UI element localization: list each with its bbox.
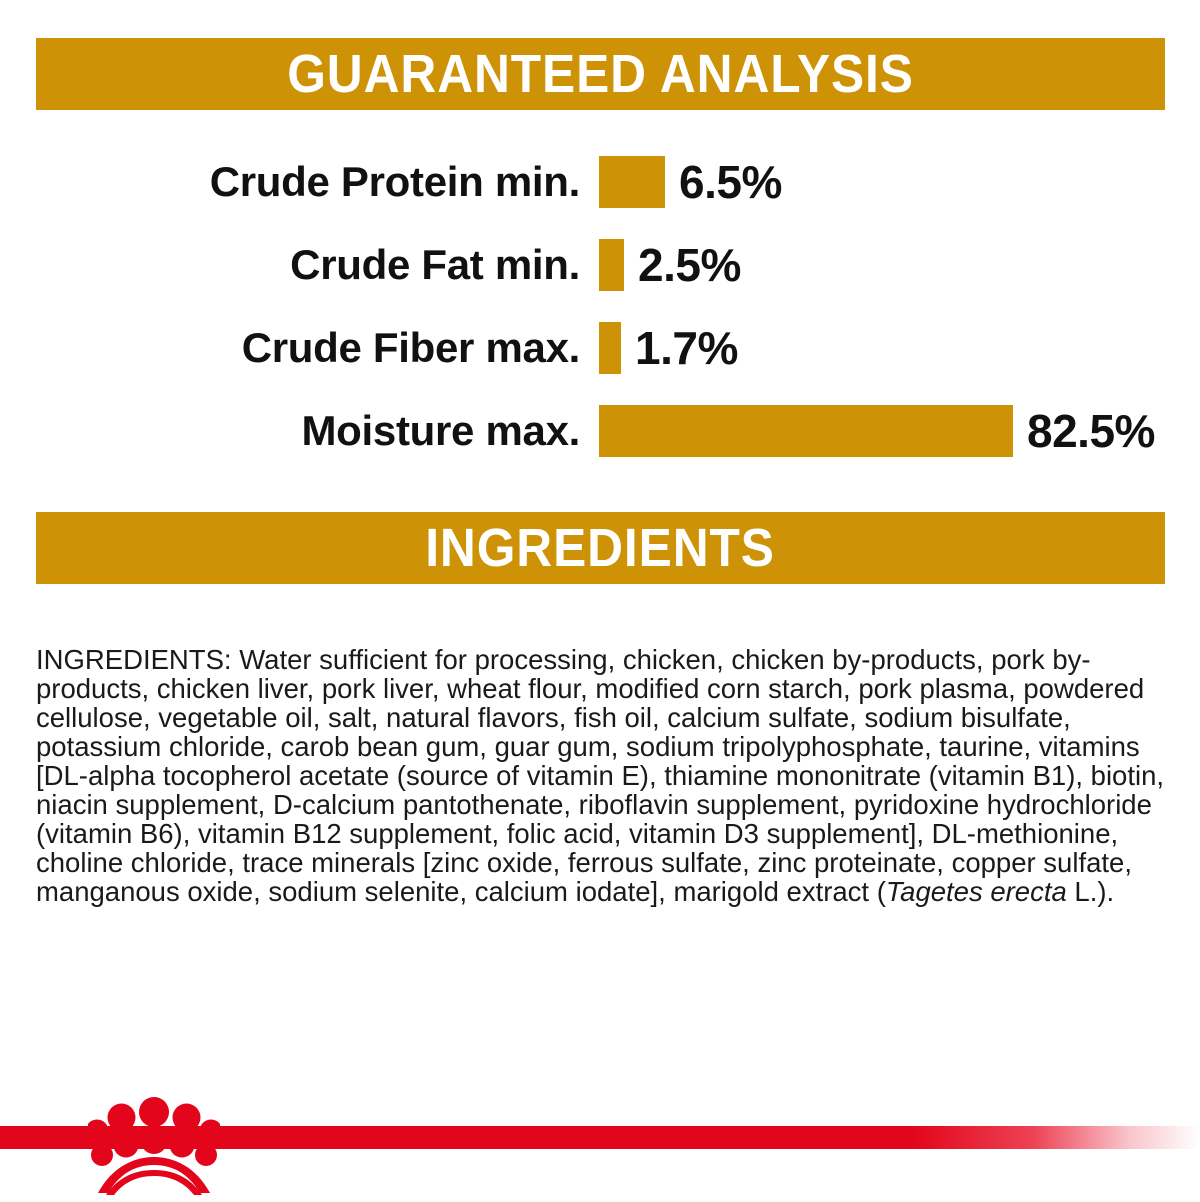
ga-row-bar [599, 322, 621, 374]
ingredients-scientific-name: Tagetes erecta [886, 876, 1067, 907]
guaranteed-analysis-title: GUARANTEED ANALYSIS [287, 47, 914, 101]
brand-bar-left-cap [0, 1126, 90, 1149]
ga-row-bar [599, 405, 1013, 457]
ga-row-label: Crude Fiber max. [242, 324, 580, 372]
ga-row-value: 82.5% [1027, 404, 1155, 458]
ga-row-bar [599, 156, 665, 208]
guaranteed-analysis-header: GUARANTEED ANALYSIS [36, 38, 1165, 110]
ga-row-bar [599, 239, 624, 291]
ga-row-label: Crude Protein min. [210, 158, 580, 206]
ga-row-value: 6.5% [679, 155, 782, 209]
ga-row-value: 1.7% [635, 321, 738, 375]
ga-row: Crude Fiber max.1.7% [0, 306, 1200, 389]
ga-row: Crude Fat min.2.5% [0, 223, 1200, 306]
guaranteed-analysis-chart: Crude Protein min.6.5%Crude Fat min.2.5%… [0, 140, 1200, 472]
ingredients-title: INGREDIENTS [426, 521, 776, 575]
ingredients-text-prefix: INGREDIENTS: Water sufficient for proces… [36, 644, 1164, 907]
royal-canin-crown-icon [88, 1093, 220, 1197]
ga-row: Crude Protein min.6.5% [0, 140, 1200, 223]
ingredients-header: INGREDIENTS [36, 512, 1165, 584]
ga-row-label: Moisture max. [301, 407, 580, 455]
ingredients-text-suffix: L.). [1067, 876, 1114, 907]
ga-row: Moisture max.82.5% [0, 389, 1200, 472]
ga-row-label: Crude Fat min. [290, 241, 580, 289]
ga-row-value: 2.5% [638, 238, 741, 292]
ingredients-text: INGREDIENTS: Water sufficient for proces… [36, 645, 1168, 906]
